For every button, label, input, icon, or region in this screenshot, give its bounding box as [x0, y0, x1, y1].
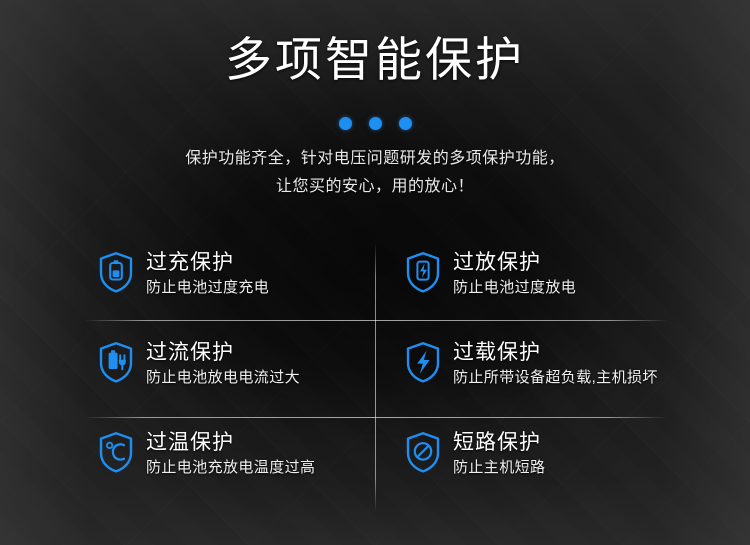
- feature-text: 过载保护 防止所带设备超负载,主机损坏: [453, 339, 658, 389]
- shield-lightning-filled-icon: [403, 340, 443, 384]
- feature-description: 防止电池过度放电: [453, 277, 576, 299]
- feature-item-overcurrent: 过流保护 防止电池放电电流过大: [86, 330, 376, 420]
- feature-text: 过温保护 防止电池充放电温度过高: [146, 429, 315, 479]
- feature-item-shortcircuit: 短路保护 防止主机短路: [376, 420, 666, 510]
- feature-description: 防止电池过度充电: [146, 277, 269, 299]
- feature-title: 过载保护: [453, 341, 541, 364]
- feature-title: 过温保护: [146, 431, 234, 454]
- protection-features-poster: 多项智能保护 保护功能齐全，针对电压问题研发的多项保护功能， 让您买的安心，用的…: [0, 0, 750, 545]
- feature-title: 过放保护: [453, 251, 541, 274]
- page-subtitle: 保护功能齐全，针对电压问题研发的多项保护功能， 让您买的安心，用的放心！: [0, 145, 750, 201]
- dot-separator: [0, 117, 750, 130]
- feature-item-overdischarge: 过放保护 防止电池过度放电: [376, 240, 666, 330]
- shield-battery-plug-icon: [96, 340, 136, 384]
- feature-description: 防止所带设备超负载,主机损坏: [453, 367, 658, 389]
- feature-text: 过流保护 防止电池放电电流过大: [146, 339, 300, 389]
- feature-text: 过放保护 防止电池过度放电: [453, 249, 576, 299]
- feature-description: 防止主机短路: [453, 457, 545, 479]
- feature-text: 短路保护 防止主机短路: [453, 429, 545, 479]
- feature-title: 过充保护: [146, 251, 234, 274]
- feature-title: 过流保护: [146, 341, 234, 364]
- shield-bolt-discharge-icon: [403, 250, 443, 294]
- dot-indicator-1: [339, 117, 352, 130]
- feature-description: 防止电池充放电温度过高: [146, 457, 315, 479]
- feature-grid: 过充保护 防止电池过度充电 过放保护 防止电池过度放电: [86, 240, 666, 510]
- feature-text: 过充保护 防止电池过度充电: [146, 249, 269, 299]
- feature-item-overload: 过载保护 防止所带设备超负载,主机损坏: [376, 330, 666, 420]
- feature-item-overtemperature: 过温保护 防止电池充放电温度过高: [86, 420, 376, 510]
- shield-battery-charge-icon: [96, 250, 136, 294]
- dot-indicator-2: [369, 117, 382, 130]
- subtitle-line-2: 让您买的安心，用的放心！: [0, 173, 750, 201]
- feature-description: 防止电池放电电流过大: [146, 367, 300, 389]
- feature-item-overcharge: 过充保护 防止电池过度充电: [86, 240, 376, 330]
- shield-prohibition-icon: [403, 430, 443, 474]
- page-title: 多项智能保护: [0, 34, 750, 87]
- feature-title: 短路保护: [453, 431, 541, 454]
- dot-indicator-3: [399, 117, 412, 130]
- subtitle-line-1: 保护功能齐全，针对电压问题研发的多项保护功能，: [0, 145, 750, 173]
- shield-celsius-icon: [96, 430, 136, 474]
